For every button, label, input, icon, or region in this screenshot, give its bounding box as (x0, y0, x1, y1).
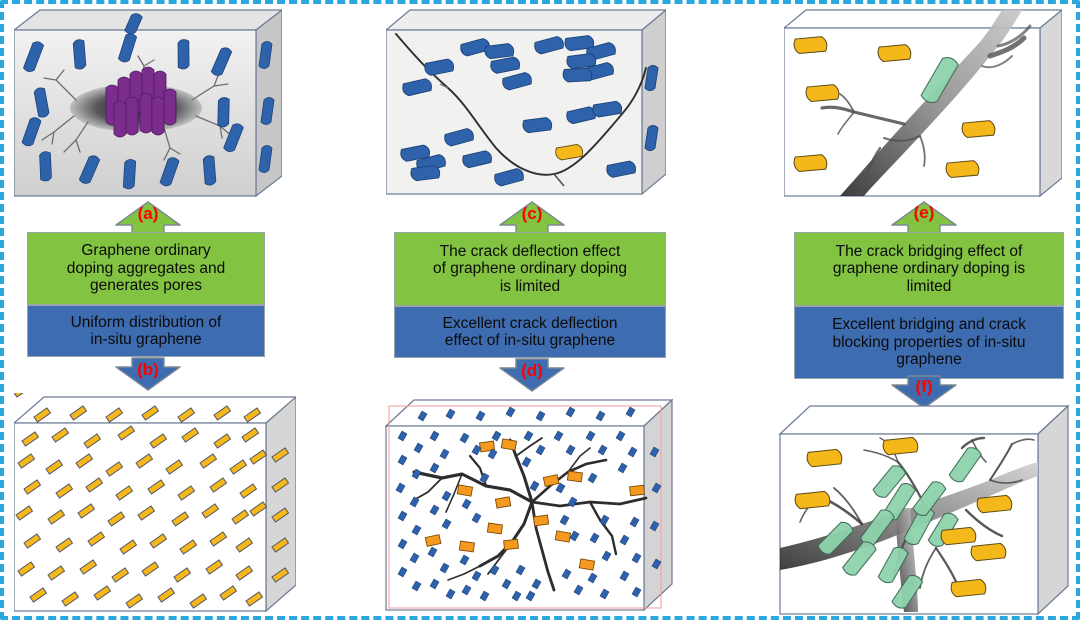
arrow-down-b-shape (114, 357, 182, 391)
arrow-up-c: (c) (498, 201, 566, 233)
column-c: (e) The crack bridging effect of graphen… (760, 4, 1076, 616)
panel-d-block (384, 394, 674, 616)
panel-f-illustration (776, 400, 1072, 616)
panel-c-illustration (386, 8, 666, 200)
arrow-down-d: (d) (498, 358, 566, 392)
panel-d-illustration (384, 394, 674, 616)
message-blue-e: Excellent bridging and crack blocking pr… (794, 306, 1064, 379)
arrow-up-a: (a) (114, 201, 182, 233)
arrow-up-c-shape (498, 201, 566, 233)
message-green-c: The crack deflection effect of graphene … (394, 232, 666, 306)
figure-root: (a) Graphene ordinary doping aggregates … (0, 0, 1080, 620)
panel-e-block (784, 8, 1062, 200)
panel-a-block (14, 8, 282, 200)
arrow-down-b: (b) (114, 357, 182, 391)
column-a: (a) Graphene ordinary doping aggregates … (8, 4, 358, 616)
panel-c-block (386, 8, 666, 200)
panel-f-block (776, 400, 1072, 616)
message-green-e: The crack bridging effect of graphene or… (794, 232, 1064, 306)
arrow-up-e: (e) (890, 201, 958, 233)
arrow-up-e-shape (890, 201, 958, 233)
arrow-up-a-shape (114, 201, 182, 233)
panel-e-illustration (784, 8, 1062, 200)
panel-a-illustration (14, 8, 282, 200)
panel-b-block (14, 393, 296, 615)
message-green-a: Graphene ordinary doping aggregates and … (27, 232, 265, 305)
panel-b-illustration (14, 393, 296, 615)
column-b: (c) The crack deflection effect of graph… (374, 4, 714, 616)
message-blue-c: Excellent crack deflection effect of in-… (394, 306, 666, 358)
arrow-down-d-shape (498, 358, 566, 392)
message-blue-a: Uniform distribution of in-situ graphene (27, 305, 265, 357)
